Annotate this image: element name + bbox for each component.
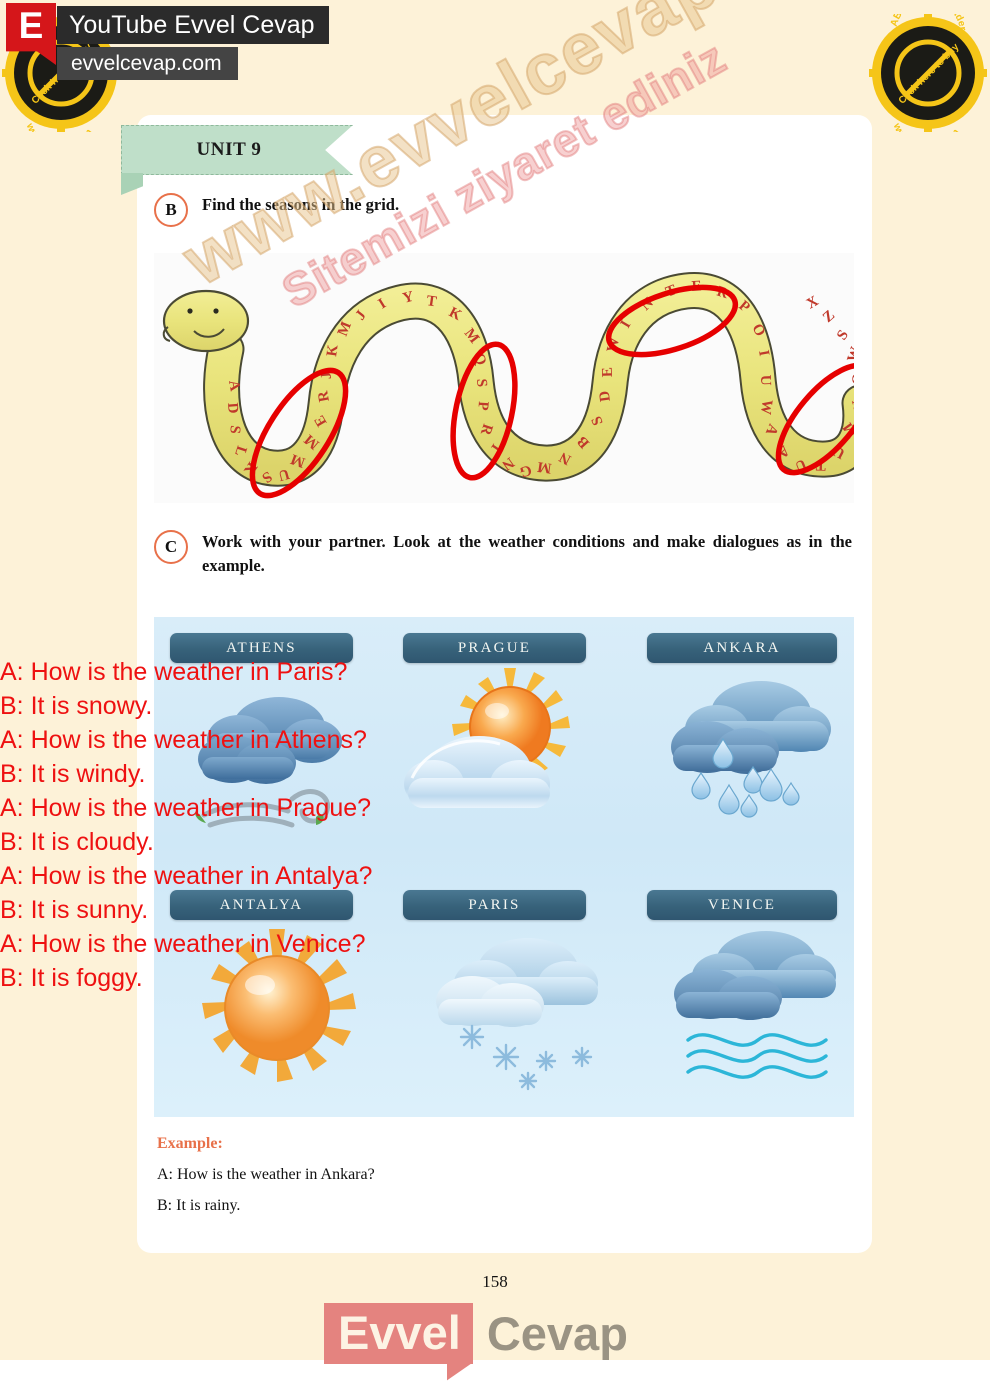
svg-text:W: W — [757, 398, 775, 415]
svg-text:S: S — [473, 378, 490, 387]
footer-strip — [0, 1360, 990, 1400]
unit-banner: UNIT 9 — [121, 125, 353, 175]
exercise-b-header: B Find the seasons in the grid. — [154, 193, 814, 227]
youtube-channel-label: YouTube Evvel Cevap — [69, 11, 315, 40]
svg-text:M: M — [536, 458, 552, 476]
sun-behind-cloud-icon — [404, 652, 594, 842]
brand-right-text: Cevap — [473, 1306, 628, 1361]
svg-text:E: E — [600, 367, 616, 378]
svg-text:A: A — [225, 379, 243, 393]
svg-text:U: U — [757, 375, 773, 387]
e-logo-letter: E — [19, 3, 44, 49]
answer-circle-summer — [235, 356, 364, 503]
svg-text:S: S — [834, 327, 852, 343]
svg-text:P: P — [474, 401, 491, 411]
exercise-c-header: C Work with your partner. Look at the we… — [154, 530, 854, 578]
svg-text:W: W — [845, 345, 854, 364]
city-label: VENICE — [708, 897, 776, 914]
city-chip-antalya[interactable]: ANTALYA — [170, 890, 353, 920]
city-label: ANKARA — [703, 640, 780, 657]
seasons-snake-puzzle: A D S L K S U M M E R J K M J I Y T K M — [154, 253, 854, 503]
website-banner[interactable]: evvelcevap.com — [57, 47, 238, 80]
example-line-b: B: It is rainy. — [157, 1197, 797, 1215]
city-label: ANTALYA — [220, 897, 304, 914]
city-label: ATHENS — [226, 640, 297, 657]
city-chip-ankara[interactable]: ANKARA — [647, 633, 837, 663]
example-title: Example: — [157, 1135, 797, 1153]
exercise-b-badge: B — [154, 193, 188, 227]
svg-text:Z: Z — [820, 307, 838, 326]
fog-cloud-icon — [654, 922, 854, 1092]
weather-conditions-panel: ATHENS PRAGUE ANKARA — [154, 617, 854, 1117]
worksheet-page: UNIT 9 B Find the seasons in the grid. — [137, 115, 872, 1253]
svg-text:D: D — [224, 402, 241, 414]
youtube-channel-banner[interactable]: YouTube Evvel Cevap — [57, 6, 329, 44]
unit-banner-tail — [121, 173, 143, 195]
rain-cloud-icon — [649, 669, 849, 849]
svg-text:Q: Q — [850, 373, 854, 386]
svg-text:S: S — [226, 425, 243, 435]
exercise-b-instruction: Find the seasons in the grid. — [202, 193, 399, 217]
website-label: evvelcevap.com — [71, 52, 222, 76]
example-line-a: A: How is the weather in Ankara? — [157, 1166, 797, 1184]
brand-left-text: Evvel — [324, 1303, 473, 1364]
wind-swirl-icon — [184, 675, 374, 845]
sun-icon — [189, 925, 369, 1105]
page-number: 158 — [0, 1272, 990, 1292]
example-block: Example: A: How is the weather in Ankara… — [157, 1135, 797, 1215]
city-chip-venice[interactable]: VENICE — [647, 890, 837, 920]
unit-label: UNIT 9 — [196, 139, 261, 161]
exercise-c-instruction: Work with your partner. Look at the weat… — [202, 530, 852, 578]
snake-graphic: A D S L K S U M M E R J K M J I Y T K M — [154, 253, 854, 503]
svg-text:X: X — [804, 293, 822, 312]
city-label: PARIS — [468, 897, 520, 914]
abbyy-badge-right[interactable]: ABBYY FineReader 15 www.ABBYY.com Click … — [869, 14, 987, 132]
city-chip-paris[interactable]: PARIS — [403, 890, 586, 920]
city-chip-athens[interactable]: ATHENS — [170, 633, 353, 663]
snow-cloud-icon — [410, 929, 610, 1099]
exercise-c-badge: C — [154, 530, 188, 564]
evvel-cevap-logo: Evvel Cevap — [324, 1304, 628, 1362]
